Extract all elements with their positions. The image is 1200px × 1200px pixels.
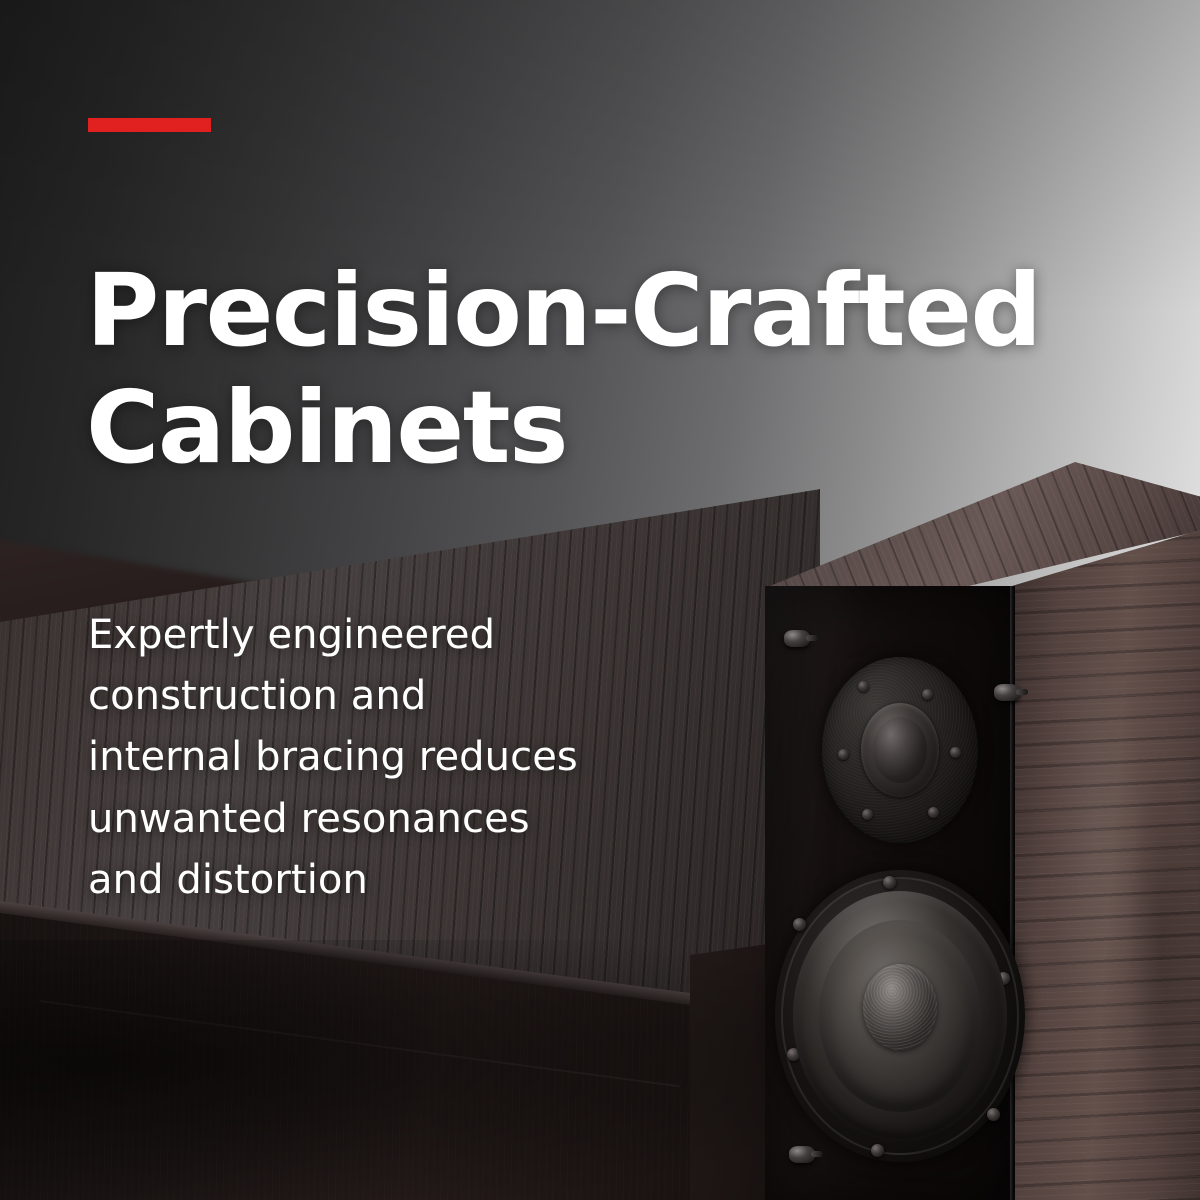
tweeter-driver [822, 657, 978, 843]
promo-hero-image: Precision-Crafted Cabinets Expertly engi… [0, 0, 1200, 1200]
tweeter-screw [838, 749, 849, 760]
woofer-screw [793, 918, 806, 931]
speaker-side-woodgrain [1012, 524, 1200, 1200]
tweeter-dome [873, 717, 927, 783]
woofer-screw [987, 1108, 1000, 1121]
brand-accent-bar [88, 118, 211, 132]
woofer-dust-cap [863, 964, 937, 1050]
grille-mount-peg [789, 1146, 815, 1163]
woofer-screw [883, 876, 896, 889]
speaker-front-corner-edge [1010, 586, 1014, 1200]
tweeter-screw [928, 807, 939, 818]
woofer-screw [871, 1144, 884, 1157]
page-title: Precision-Crafted Cabinets [86, 252, 1046, 486]
tweeter-screw [922, 689, 933, 700]
tweeter-screw [858, 681, 869, 692]
grille-mount-peg [994, 684, 1020, 701]
woofer-driver [775, 870, 1025, 1162]
body-description: Expertly engineered construction and int… [88, 605, 728, 911]
tweeter-screw [862, 809, 873, 820]
grille-mount-peg [784, 630, 810, 647]
wood-surface-shadow [0, 940, 840, 1200]
tweeter-screw [950, 747, 961, 758]
